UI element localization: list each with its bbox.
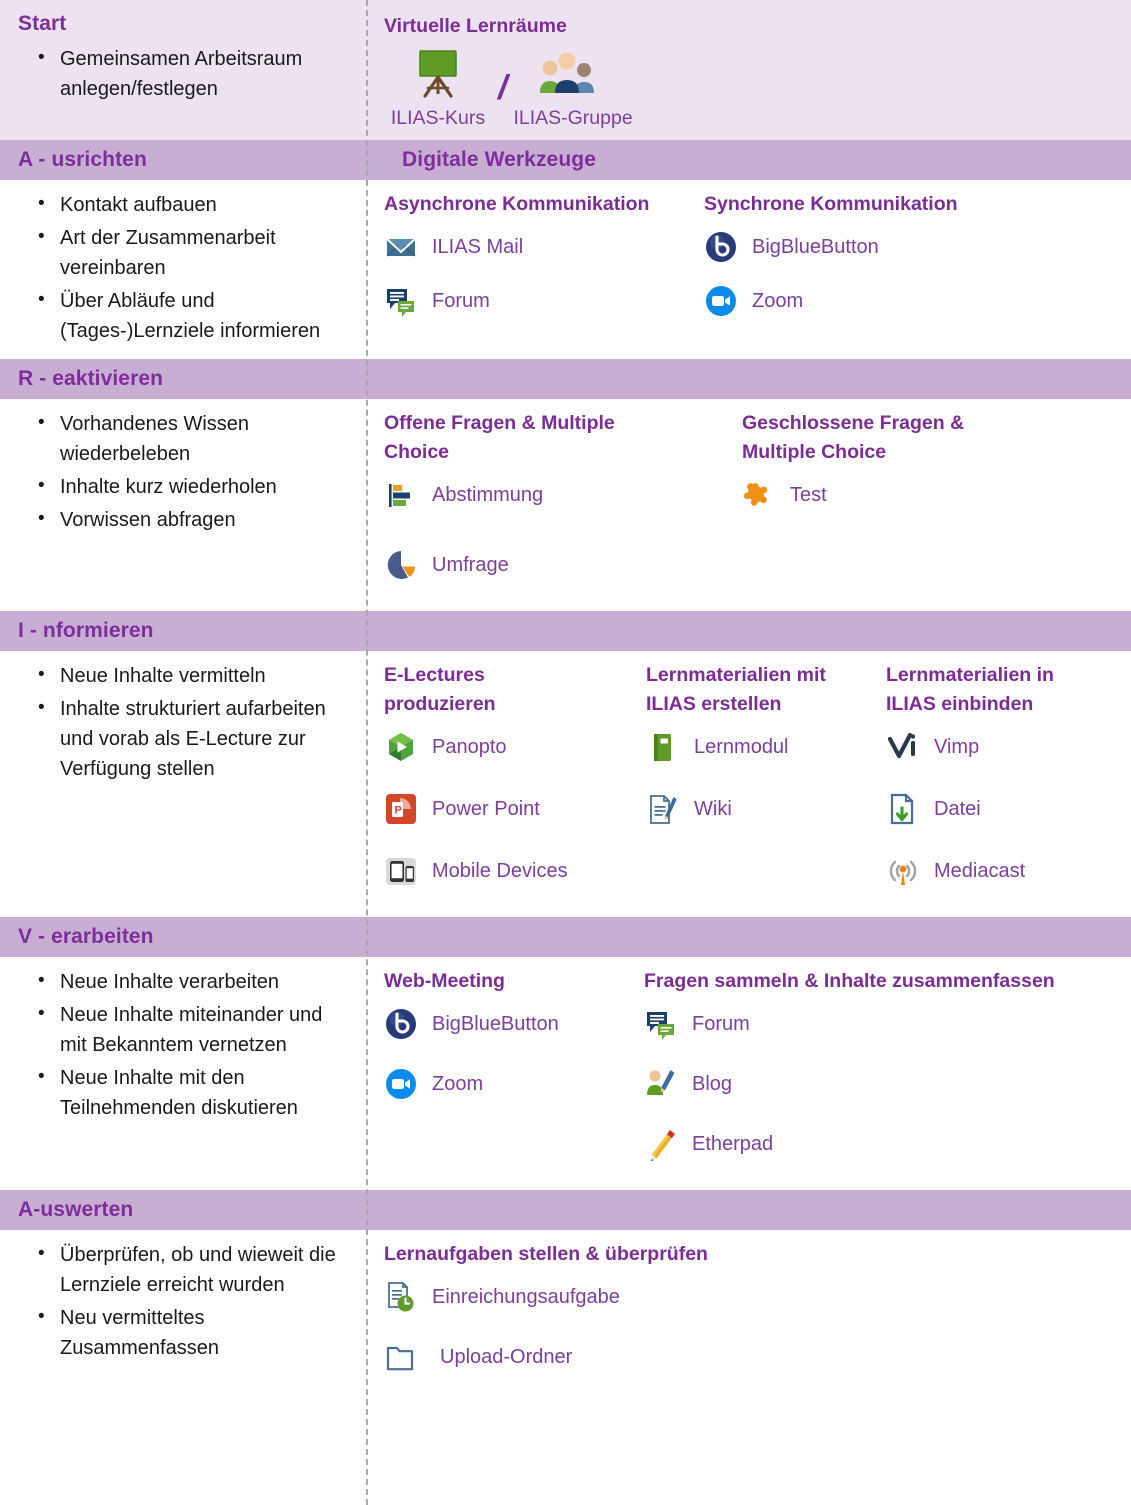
tool-blog[interactable]: Blog xyxy=(644,1066,1055,1102)
learning-room-ilias-kurs[interactable]: ILIAS-Kurs xyxy=(384,47,492,130)
forum-bubbles-icon xyxy=(644,1007,678,1041)
tool-label: Wiki xyxy=(694,798,732,821)
tool-zoom[interactable]: Zoom xyxy=(704,283,958,319)
envelope-icon xyxy=(384,230,418,264)
blog-person-pencil-icon xyxy=(644,1067,678,1101)
auswerten-right: Lernaufgaben stellen & überprüfen xyxy=(366,1230,1131,1403)
right-title-virtuelle-lernraeume: Virtuelle Lernräume xyxy=(384,0,1121,41)
tool-label: Mobile Devices xyxy=(432,860,568,883)
tool-lernmodul[interactable]: Lernmodul xyxy=(646,729,886,765)
tool-bigbluebutton[interactable]: BigBlueButton xyxy=(704,229,958,265)
group-title: E-Lectures produzieren xyxy=(384,661,554,719)
group-title: Lernaufgaben stellen & überprüfen xyxy=(384,1240,1121,1269)
ausrichten-right: Asynchrone Kommunikation ILIAS Ma xyxy=(366,180,1131,359)
tool-mediacast[interactable]: Mediacast xyxy=(886,853,1086,889)
section-title-ausrichten: A - usrichten xyxy=(0,148,147,172)
tool-forum[interactable]: Forum xyxy=(384,283,704,319)
tool-datei[interactable]: Datei xyxy=(886,791,1086,827)
band-ausrichten: A - usrichten Digitale Werkzeuge xyxy=(0,140,1131,180)
group-geschlossene-fragen: Geschlossene Fragen & Multiple Choice Te… xyxy=(742,409,1032,531)
group-title: Fragen sammeln & Inhalte zusammenfassen xyxy=(644,967,1055,996)
broadcast-icon xyxy=(886,854,920,888)
tool-label: Blog xyxy=(692,1073,732,1096)
informieren-left: Neue Inhalte vermitteln Inhalte struktur… xyxy=(0,651,366,917)
section-title-start: Start xyxy=(16,0,66,36)
band-verarbeiten: V - erarbeiten xyxy=(0,917,1131,957)
list-item: Art der Zusammenarbeit vereinbaren xyxy=(38,223,352,283)
group-fragen-sammeln: Fragen sammeln & Inhalte zusammenfassen xyxy=(644,967,1055,1180)
tool-label: Power Point xyxy=(432,798,540,821)
bigbluebutton-icon xyxy=(384,1007,418,1041)
group-web-meeting: Web-Meeting BigBlueButton xyxy=(384,967,644,1120)
tool-label: Test xyxy=(790,484,827,507)
separator-slash: / xyxy=(492,69,513,130)
tool-wiki[interactable]: Wiki xyxy=(646,791,886,827)
tool-upload-ordner[interactable]: Upload-Ordner xyxy=(384,1339,1121,1375)
list-item: Kontakt aufbauen xyxy=(38,190,352,220)
tool-label: Mediacast xyxy=(934,860,1025,883)
section-reaktivieren: R - eaktivieren Vorhandenes Wissen wiede… xyxy=(0,359,1131,611)
tool-label: Einreichungsaufgabe xyxy=(432,1286,620,1309)
start-right: Virtuelle Lernräume xyxy=(366,0,1131,140)
pie-chart-icon xyxy=(384,548,418,582)
mobile-devices-icon xyxy=(384,854,418,888)
document-pencil-icon xyxy=(646,792,680,826)
group-title: Offene Fragen & Multiple Choice xyxy=(384,409,644,467)
tool-label: Zoom xyxy=(432,1073,483,1096)
pencil-icon xyxy=(644,1127,678,1161)
tool-label: BigBlueButton xyxy=(432,1013,559,1036)
assignment-clock-icon xyxy=(384,1280,418,1314)
bigbluebutton-icon xyxy=(704,230,738,264)
tool-label: Forum xyxy=(432,290,490,313)
tool-bigbluebutton[interactable]: BigBlueButton xyxy=(384,1006,644,1042)
tool-umfrage[interactable]: Umfrage xyxy=(384,547,674,583)
tool-forum[interactable]: Forum xyxy=(644,1006,1055,1042)
list-item: Inhalte strukturiert aufarbeiten und vor… xyxy=(38,694,352,784)
list-item: Vorwissen abfragen xyxy=(38,505,352,535)
section-title-reaktivieren: R - eaktivieren xyxy=(0,367,163,391)
tool-ilias-mail[interactable]: ILIAS Mail xyxy=(384,229,704,265)
tool-label: Abstimmung xyxy=(432,484,543,507)
group-lernmaterialien-erstellen: Lernmaterialien mit ILIAS erstellen Lern… xyxy=(646,661,886,845)
tool-abstimmung[interactable]: Abstimmung xyxy=(384,477,674,513)
list-item: Neue Inhalte mit den Teilnehmenden disku… xyxy=(38,1063,352,1123)
tool-label: Upload-Ordner xyxy=(440,1346,572,1369)
list-item: Neue Inhalte vermitteln xyxy=(38,661,352,691)
list-item: Vorhandenes Wissen wiederbeleben xyxy=(38,409,352,469)
learning-room-ilias-gruppe[interactable]: ILIAS-Gruppe xyxy=(513,47,621,130)
ausrichten-bullet-list: Kontakt aufbauen Art der Zusammenarbeit … xyxy=(16,190,352,346)
informieren-right: E-Lectures produzieren Panopto xyxy=(366,651,1131,917)
reaktivieren-right: Offene Fragen & Multiple Choice A xyxy=(366,399,1131,611)
zoom-camera-icon xyxy=(704,284,738,318)
zoom-camera-icon xyxy=(384,1067,418,1101)
section-auswerten: A-uswerten Überprüfen, ob und wieweit di… xyxy=(0,1190,1131,1403)
vimp-icon xyxy=(886,730,920,764)
list-item: Neue Inhalte miteinander und mit Bekannt… xyxy=(38,1000,352,1060)
group-asynchrone-kommunikation: Asynchrone Kommunikation ILIAS Ma xyxy=(384,190,704,337)
verarbeiten-right: Web-Meeting BigBlueButton xyxy=(366,957,1131,1190)
auswerten-bullet-list: Überprüfen, ob und wieweit die Lernziele… xyxy=(16,1240,352,1363)
band-auswerten: A-uswerten xyxy=(0,1190,1131,1230)
start-bullet-list: Gemeinsamen Arbeitsraum anlegen/festlege… xyxy=(16,44,352,104)
verarbeiten-left: Neue Inhalte verarbeiten Neue Inhalte mi… xyxy=(0,957,366,1190)
band-reaktivieren: R - eaktivieren xyxy=(0,359,1131,399)
tool-zoom[interactable]: Zoom xyxy=(384,1066,644,1102)
group-title: Lernmaterialien in ILIAS einbinden xyxy=(886,661,1086,719)
list-item: Überprüfen, ob und wieweit die Lernziele… xyxy=(38,1240,352,1300)
learning-room-label: ILIAS-Gruppe xyxy=(513,107,621,130)
tool-label: Panopto xyxy=(432,736,507,759)
section-informieren: I - nformieren Neue Inhalte vermitteln I… xyxy=(0,611,1131,917)
auswerten-left: Überprüfen, ob und wieweit die Lernziele… xyxy=(0,1230,366,1403)
informieren-bullet-list: Neue Inhalte vermitteln Inhalte struktur… xyxy=(16,661,352,784)
list-item: Neu vermitteltes Zusammenfassen xyxy=(38,1303,352,1363)
group-title: Geschlossene Fragen & Multiple Choice xyxy=(742,409,1032,467)
tool-label: Etherpad xyxy=(692,1133,773,1156)
forum-bubbles-icon xyxy=(384,284,418,318)
tool-label: Vimp xyxy=(934,736,979,759)
group-title: Lernmaterialien mit ILIAS erstellen xyxy=(646,661,856,719)
reaktivieren-bullet-list: Vorhandenes Wissen wiederbeleben Inhalte… xyxy=(16,409,352,535)
verarbeiten-bullet-list: Neue Inhalte verarbeiten Neue Inhalte mi… xyxy=(16,967,352,1123)
panopto-icon xyxy=(384,730,418,764)
learning-room-label: ILIAS-Kurs xyxy=(384,107,492,130)
list-item: Inhalte kurz wiederholen xyxy=(38,472,352,502)
tool-etherpad[interactable]: Etherpad xyxy=(644,1126,1055,1162)
people-group-icon xyxy=(513,47,621,101)
tool-einreichungsaufgabe[interactable]: Einreichungsaufgabe xyxy=(384,1279,1121,1315)
bar-chart-icon xyxy=(384,478,418,512)
group-e-lectures: E-Lectures produzieren Panopto xyxy=(384,661,646,907)
section-start: Start Gemeinsamen Arbeitsraum anlegen/fe… xyxy=(0,0,1131,140)
reaktivieren-left: Vorhandenes Wissen wiederbeleben Inhalte… xyxy=(0,399,366,611)
folder-icon xyxy=(384,1340,418,1374)
band-informieren: I - nformieren xyxy=(0,611,1131,651)
section-title-informieren: I - nformieren xyxy=(0,619,154,643)
section-title-verarbeiten: V - erarbeiten xyxy=(0,925,154,949)
group-lernaufgaben: Lernaufgaben stellen & überprüfen xyxy=(384,1240,1121,1375)
tool-mobile-devices[interactable]: Mobile Devices xyxy=(384,853,646,889)
tool-label: BigBlueButton xyxy=(752,236,879,259)
group-synchrone-kommunikation: Synchrone Kommunikation BigBlueButton xyxy=(704,190,958,337)
book-icon xyxy=(646,730,680,764)
section-title-auswerten: A-uswerten xyxy=(0,1198,133,1222)
avir-overview-sheet: Start Gemeinsamen Arbeitsraum anlegen/fe… xyxy=(0,0,1131,1505)
list-item: Gemeinsamen Arbeitsraum anlegen/festlege… xyxy=(38,44,352,104)
list-item: Über Abläufe und (Tages-)Lernziele infor… xyxy=(38,286,352,346)
tool-panopto[interactable]: Panopto xyxy=(384,729,646,765)
tool-label: Forum xyxy=(692,1013,750,1036)
list-item: Neue Inhalte verarbeiten xyxy=(38,967,352,997)
tool-label: Zoom xyxy=(752,290,803,313)
easel-board-icon xyxy=(384,47,492,101)
tool-vimp[interactable]: Vimp xyxy=(886,729,1086,765)
group-title: Asynchrone Kommunikation xyxy=(384,190,704,219)
group-offene-fragen: Offene Fragen & Multiple Choice A xyxy=(384,409,674,601)
section-verarbeiten: V - erarbeiten Neue Inhalte verarbeiten … xyxy=(0,917,1131,1190)
group-title: Web-Meeting xyxy=(384,967,644,996)
powerpoint-icon: P xyxy=(384,792,418,826)
file-download-icon xyxy=(886,792,920,826)
svg-text:P: P xyxy=(395,805,402,817)
tool-test[interactable]: Test xyxy=(742,477,1032,513)
puzzle-piece-icon xyxy=(742,478,776,512)
ausrichten-left: Kontakt aufbauen Art der Zusammenarbeit … xyxy=(0,180,366,359)
tool-label: ILIAS Mail xyxy=(432,236,523,259)
tool-label: Umfrage xyxy=(432,554,509,577)
tool-label: Lernmodul xyxy=(694,736,789,759)
right-title-digitale-werkzeuge: Digitale Werkzeuge xyxy=(384,148,596,172)
start-left: Start Gemeinsamen Arbeitsraum anlegen/fe… xyxy=(0,0,366,140)
tool-label: Datei xyxy=(934,798,981,821)
tool-power-point[interactable]: P Power Point xyxy=(384,791,646,827)
section-ausrichten: A - usrichten Digitale Werkzeuge Kontakt… xyxy=(0,140,1131,359)
group-lernmaterialien-einbinden: Lernmaterialien in ILIAS einbinden Vimp xyxy=(886,661,1086,907)
learning-rooms-row: ILIAS-Kurs / xyxy=(384,45,1121,130)
group-title: Synchrone Kommunikation xyxy=(704,190,958,219)
